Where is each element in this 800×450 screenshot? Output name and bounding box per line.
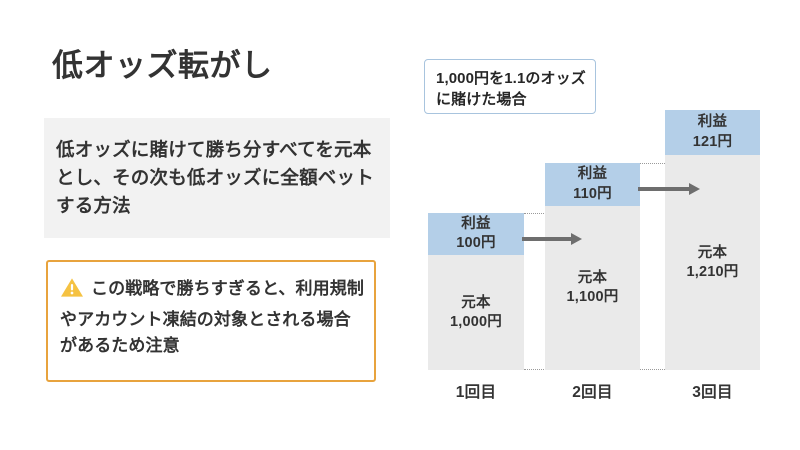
description-box: 低オッズに賭けて勝ち分すべてを元本とし、その次も低オッズに全額ベットする方法 — [44, 118, 390, 238]
warning-content: この戦略で勝ちすぎると、利用規制やアカウント凍結の対象とされる場合があるため注意 — [60, 276, 366, 360]
bar-1-profit-value: 100円 — [456, 234, 496, 253]
bar-group-1: 利益 100円 元本 1,000円 — [428, 213, 524, 370]
warning-text: この戦略で勝ちすぎると、利用規制やアカウント凍結の対象とされる場合があるため注意 — [60, 279, 364, 355]
bar-1-profit-label: 利益 — [461, 215, 490, 234]
warning-box: この戦略で勝ちすぎると、利用規制やアカウント凍結の対象とされる場合があるため注意 — [46, 260, 376, 382]
bar-3-principal-label: 元本 — [698, 243, 727, 262]
bar-group-3: 利益 121円 元本 1,210円 — [665, 110, 760, 370]
bar-3-principal-value: 1,210円 — [687, 263, 739, 282]
bar-3-profit-label: 利益 — [698, 113, 727, 132]
axis-label-2: 2回目 — [545, 380, 640, 402]
bar-2-profit-segment: 利益 110円 — [545, 163, 640, 206]
callout-box: 1,000円を1.1のオッズに賭けた場合 — [424, 59, 596, 114]
bar-2-principal-value: 1,100円 — [567, 288, 619, 307]
bar-2-principal-segment: 元本 1,100円 — [545, 206, 640, 370]
slide-root: 低オッズ転がし 低オッズに賭けて勝ち分すべてを元本とし、その次も低オッズに全額ベ… — [0, 0, 800, 450]
bar-3-profit-value: 121円 — [693, 133, 733, 152]
bar-3-profit-segment: 利益 121円 — [665, 110, 760, 155]
callout-text: 1,000円を1.1のオッズに賭けた場合 — [436, 68, 588, 111]
bar-group-2: 利益 110円 元本 1,100円 — [545, 163, 640, 370]
bar-1-principal-label: 元本 — [461, 293, 490, 312]
axis-label-3: 3回目 — [665, 380, 760, 402]
description-text: 低オッズに賭けて勝ち分すべてを元本とし、その次も低オッズに全額ベットする方法 — [56, 136, 381, 220]
bar-2-principal-label: 元本 — [578, 269, 607, 288]
page-title: 低オッズ転がし — [52, 47, 273, 84]
bar-2-profit-label: 利益 — [578, 165, 607, 184]
bar-1-profit-segment: 利益 100円 — [428, 213, 524, 255]
axis-label-1: 1回目 — [428, 380, 524, 402]
warning-triangle-icon — [60, 277, 84, 307]
chart-area: 1,000円を1.1のオッズに賭けた場合 利益 100円 元本 1,000円 1… — [400, 0, 800, 450]
rollover-arrow-2 — [638, 183, 700, 195]
bar-1-principal-value: 1,000円 — [450, 313, 502, 332]
rollover-arrow-1 — [522, 233, 582, 245]
bar-2-profit-value: 110円 — [573, 185, 612, 204]
bar-1-principal-segment: 元本 1,000円 — [428, 255, 524, 370]
